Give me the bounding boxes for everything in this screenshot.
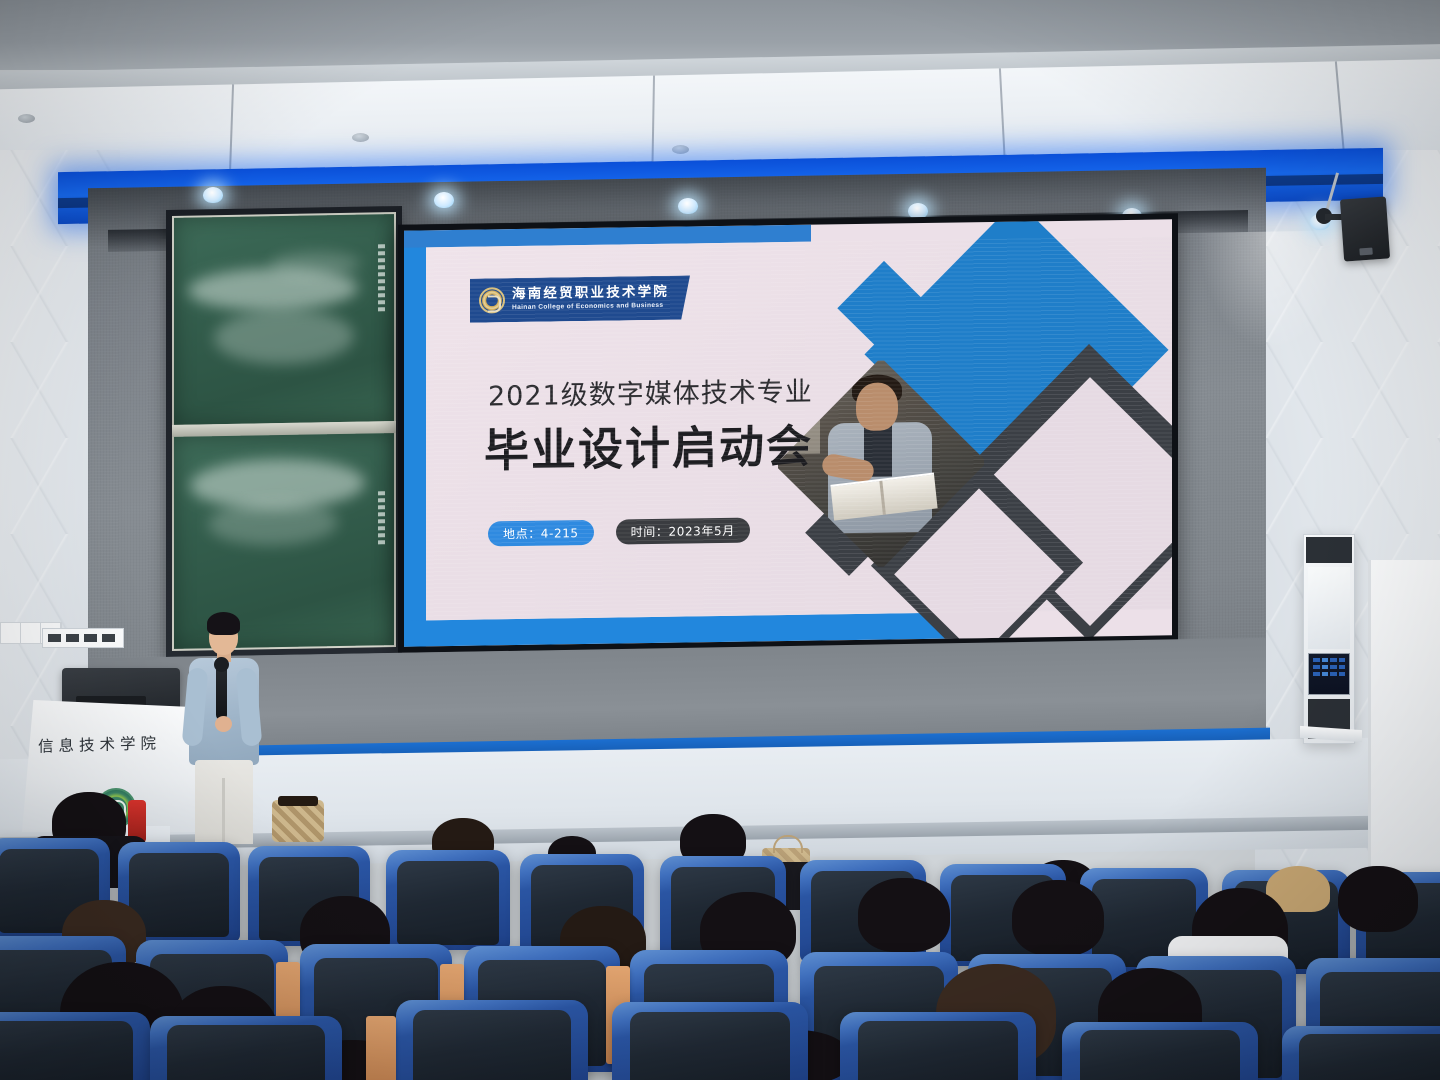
presentation-screen: 海南经贸职业技术学院 Hainan College of Economics a… [398,213,1178,653]
side-door[interactable] [1368,560,1440,890]
presenter [183,612,263,842]
seat[interactable] [1282,1026,1440,1080]
blackboard-marks [378,491,385,544]
seat[interactable] [840,1012,1036,1080]
armrest [366,1016,396,1080]
ceiling-bolt [352,133,369,142]
wall-speaker [1340,196,1390,261]
control-panel-display[interactable] [1308,653,1350,695]
seat[interactable] [386,850,510,950]
wall-socket-plate[interactable] [42,628,124,648]
seat[interactable] [396,1000,588,1080]
microphone-icon [216,664,227,720]
slide-frame-left [404,230,426,646]
audience-head [858,878,950,952]
audience-head [1338,866,1418,932]
ceiling-bolt [672,145,689,154]
ceiling-bolt [18,114,35,123]
audience-head [1012,880,1104,956]
wall-control-panel[interactable] [1303,534,1355,744]
blackboard-panel-top [174,214,394,425]
seat[interactable] [612,1002,808,1080]
seat[interactable] [0,1012,150,1080]
slide: 海南经贸职业技术学院 Hainan College of Economics a… [404,219,1172,646]
ceiling-spotlight [678,198,698,214]
slide-canvas: 海南经贸职业技术学院 Hainan College of Economics a… [426,236,1172,620]
seat[interactable] [1062,1022,1258,1080]
basket-on-stage [272,800,324,842]
ceiling-spotlight [203,187,223,203]
lecture-hall-photo: 海南经贸职业技术学院 Hainan College of Economics a… [0,0,1440,1080]
seat[interactable] [150,1016,342,1080]
podium-label: 信息技术学院 [38,731,161,756]
ceiling-spotlight [434,192,454,208]
blackboard-marks [378,244,385,311]
blackboard [166,206,402,657]
